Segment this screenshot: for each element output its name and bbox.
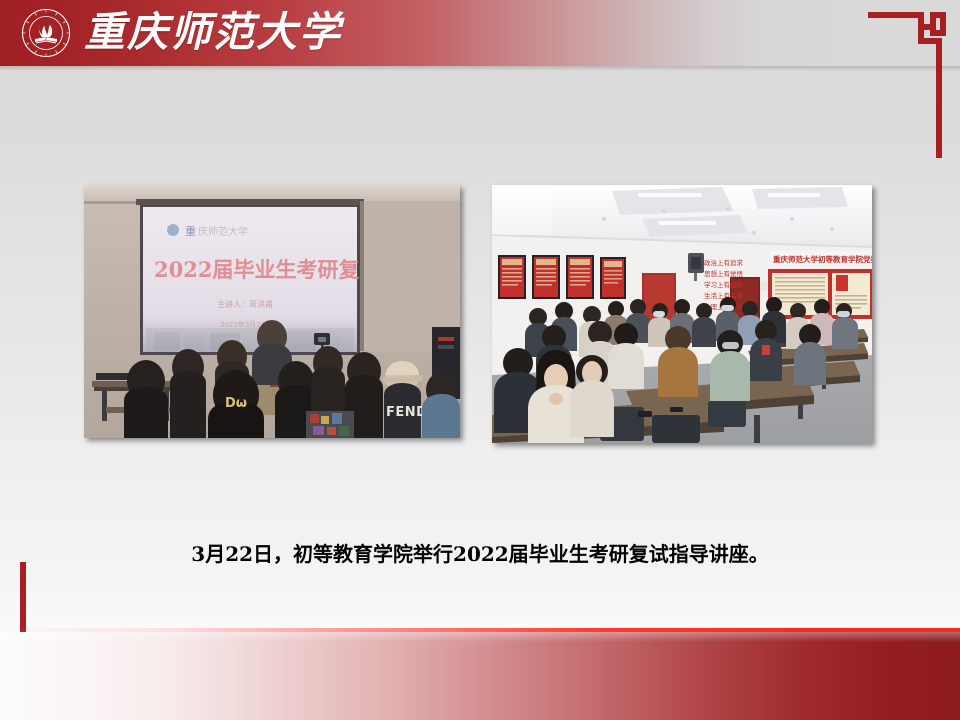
university-name-text: 重庆师范大学 [84,12,342,53]
lecture-speaker-photo-canvas: 重 庆师范大学 2022届毕业生考研复试指导 主讲人：蒋洪甫 2022年3月22… [84,185,460,438]
caption-text: 3月22日，初等教育学院举行2022届毕业生考研复试指导讲座。 [191,542,768,566]
svg-text:政治上有追求: 政治上有追求 [704,258,744,267]
corner-ornament-top-right-icon [868,8,948,163]
header-band-shadow [0,66,960,71]
audience-photo-canvas: 政治上有追求 思想上有觉悟 学习上有榜样 生活上有品味 心理上有阳光 重庆师范大… [492,185,872,443]
audience-photo: 政治上有追求 思想上有觉悟 学习上有榜样 生活上有品味 心理上有阳光 重庆师范大… [492,185,872,443]
wall-banner-text: 重庆师范大学初等教育学院党委 [773,254,872,264]
svg-text:学习上有榜样: 学习上有榜样 [704,280,744,289]
footer-band-sheen [0,632,960,642]
svg-text:庆师范大学: 庆师范大学 [198,225,248,238]
footer-band [0,632,960,720]
svg-text:Dω: Dω [225,396,247,411]
university-wordmark: 重庆师范大学 [84,4,334,60]
svg-text:思想上有觉悟: 思想上有觉悟 [704,269,744,278]
lecture-speaker-photo: 重 庆师范大学 2022届毕业生考研复试指导 主讲人：蒋洪甫 2022年3月22… [84,185,460,438]
svg-text:主讲人：蒋洪甫: 主讲人：蒋洪甫 [217,299,273,309]
presentation-slide: 重庆师范大学 [0,0,960,720]
university-seal-icon [21,8,71,58]
slide-caption: 3月22日，初等教育学院举行2022届毕业生考研复试指导讲座。 [0,541,960,567]
svg-text:重: 重 [185,224,196,238]
